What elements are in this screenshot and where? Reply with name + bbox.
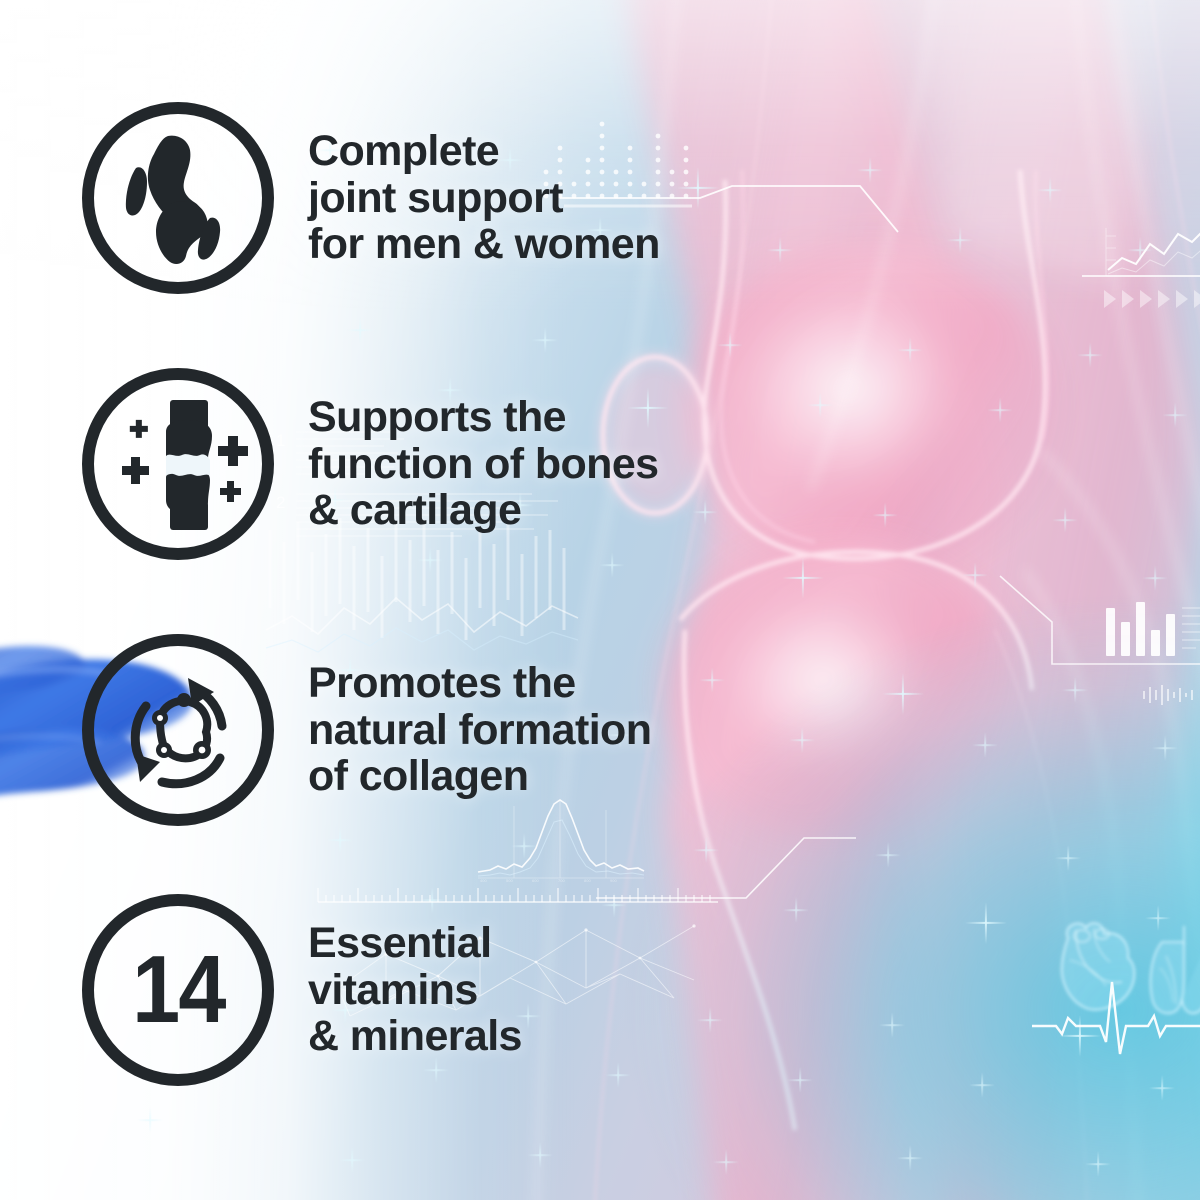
feature-row-complete-joint-support: Complete joint support for men & women — [82, 102, 660, 294]
joint-with-plus-signs-icon — [82, 368, 274, 560]
feature-label: Essential vitamins & minerals — [308, 920, 522, 1059]
feature-label: Supports the function of bones & cartila… — [308, 394, 658, 533]
infographic-canvas: 1 2 — [0, 0, 1200, 1200]
number-badge-icon: 14 — [82, 894, 274, 1086]
feature-row-collagen: Promotes the natural formation of collag… — [82, 634, 651, 826]
feature-label: Complete joint support for men & women — [308, 128, 660, 267]
feature-row-bones-cartilage: Supports the function of bones & cartila… — [82, 368, 658, 560]
feature-label: Promotes the natural formation of collag… — [308, 660, 651, 799]
feature-list: Complete joint support for men & women — [0, 0, 1200, 1200]
feature-row-vitamins-minerals: 14 Essential vitamins & minerals — [82, 894, 522, 1086]
badge-number: 14 — [132, 942, 225, 1038]
knee-joint-bones-icon — [82, 102, 274, 294]
collagen-renewal-cycle-icon — [82, 634, 274, 826]
